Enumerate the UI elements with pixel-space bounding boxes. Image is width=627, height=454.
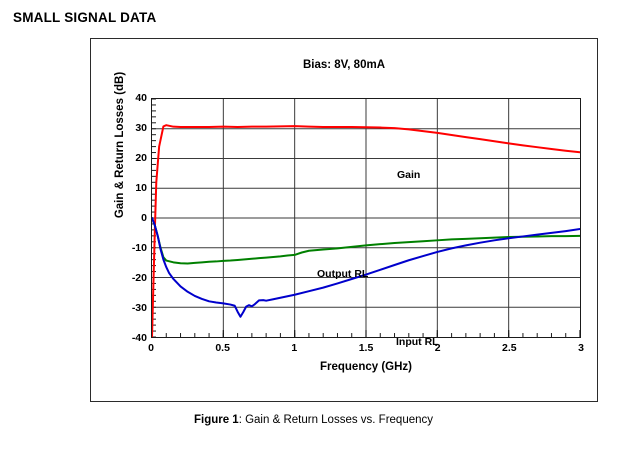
x-tick-label: 2.5 [489,342,529,354]
figure-caption-label: Figure 1 [194,414,239,426]
x-tick-label: 1 [274,342,314,354]
x-tick-label: 3 [561,342,601,354]
series-label-output-rl: Output RL [317,268,368,280]
y-tick-label: 20 [101,153,147,163]
page-title: SMALL SIGNAL DATA [13,10,156,25]
figure-frame: Bias: 8V, 80mA Gain & Return Losses (dB)… [90,38,598,402]
gridlines [152,99,580,337]
x-tick-label: 1.5 [346,342,386,354]
x-axis-tick-labels: 00.511.522.53 [151,342,581,358]
y-tick-label: 10 [101,183,147,193]
y-tick-label: -30 [101,303,147,313]
chart-title: Bias: 8V, 80mA [91,59,597,71]
figure-caption: Figure 1: Gain & Return Losses vs. Frequ… [0,414,627,426]
series-label-gain: Gain [397,169,420,181]
figure-caption-text: : Gain & Return Losses vs. Frequency [239,414,433,426]
plot-area [151,98,581,338]
y-axis-tick-labels: 403020100-10-20-30-40 [91,98,147,338]
y-tick-label: 40 [101,93,147,103]
y-tick-label: 0 [101,213,147,223]
x-tick-label: 0.5 [203,342,243,354]
x-tick-label: 0 [131,342,171,354]
x-axis-title: Frequency (GHz) [151,361,581,373]
plot-svg [152,99,580,337]
series-label-input-rl: Input RL [396,336,439,348]
y-tick-label: -20 [101,273,147,283]
y-tick-label: -10 [101,243,147,253]
y-tick-label: 30 [101,123,147,133]
